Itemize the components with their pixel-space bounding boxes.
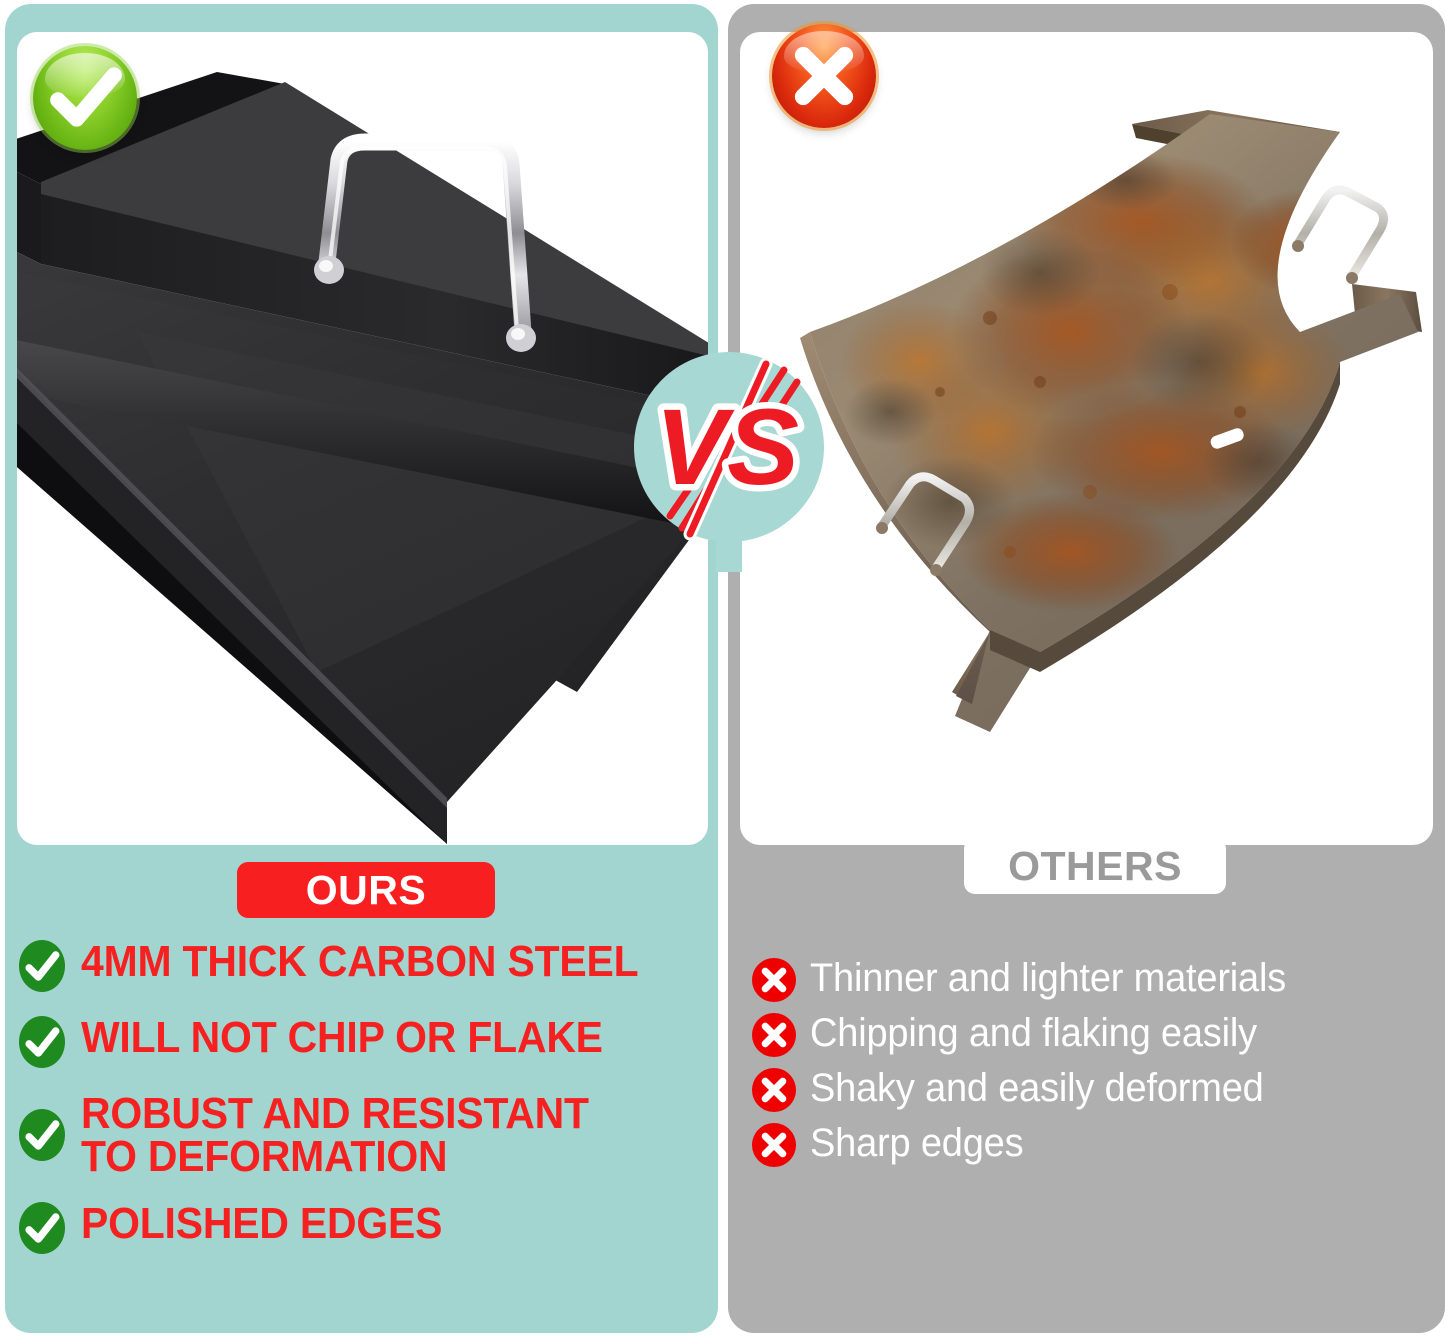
ours-feature-list: 4MM THICK CARBON STEEL WILL NOT CHIP OR … — [19, 940, 709, 1278]
wire-handle-upper — [1292, 190, 1384, 284]
list-item-label: 4MM THICK CARBON STEEL — [81, 940, 638, 983]
check-icon — [19, 940, 65, 992]
check-icon — [19, 1202, 65, 1254]
list-item-label: WILL NOT CHIP OR FLAKE — [81, 1016, 603, 1059]
x-icon — [752, 1068, 796, 1112]
x-glyph-icon — [772, 24, 876, 128]
svg-text:VS: VS — [655, 386, 799, 507]
ours-heading-pill: OURS — [237, 862, 495, 918]
list-item: 4MM THICK CARBON STEEL — [19, 940, 709, 992]
list-item-label: Chipping and flaking easily — [810, 1013, 1257, 1054]
x-icon — [752, 1123, 796, 1167]
list-item: ROBUST AND RESISTANT TO DEFORMATION — [19, 1092, 709, 1178]
check-icon — [19, 1109, 65, 1161]
x-icon — [752, 1013, 796, 1057]
ours-product-card — [17, 32, 708, 845]
list-item: WILL NOT CHIP OR FLAKE — [19, 1016, 709, 1068]
others-product-card — [740, 32, 1433, 845]
rusty-griddle-image — [740, 32, 1433, 845]
list-item-label: Shaky and easily deformed — [810, 1068, 1264, 1109]
list-item: Shaky and easily deformed — [752, 1068, 1432, 1112]
x-icon — [752, 958, 796, 1002]
ours-panel: OURS 4MM THICK CARBON STEEL WILL NOT CHI… — [5, 4, 718, 1333]
list-item-label: Thinner and lighter materials — [810, 958, 1286, 999]
check-icon — [19, 1016, 65, 1068]
vs-lettering-icon: VS VS — [634, 352, 824, 542]
black-griddle-image — [17, 32, 708, 845]
list-item-label: ROBUST AND RESISTANT TO DEFORMATION — [81, 1092, 589, 1178]
list-item: Sharp edges — [752, 1123, 1432, 1167]
list-item: Thinner and lighter materials — [752, 958, 1432, 1002]
list-item-label: Sharp edges — [810, 1123, 1023, 1164]
others-feature-list: Thinner and lighter materials Chipping a… — [752, 958, 1432, 1178]
check-glyph-icon — [33, 46, 137, 150]
list-item: Chipping and flaking easily — [752, 1013, 1432, 1057]
green-check-badge-icon — [33, 46, 137, 150]
others-heading-pill: OTHERS — [964, 838, 1226, 894]
list-item-label: POLISHED EDGES — [81, 1202, 442, 1245]
list-item: POLISHED EDGES — [19, 1202, 709, 1254]
comparison-infographic: OURS 4MM THICK CARBON STEEL WILL NOT CHI… — [0, 0, 1445, 1337]
others-panel: OTHERS Thinner and lighter materials Chi… — [728, 4, 1445, 1333]
vs-badge: VS VS — [634, 352, 824, 542]
red-x-badge-icon — [772, 24, 876, 128]
